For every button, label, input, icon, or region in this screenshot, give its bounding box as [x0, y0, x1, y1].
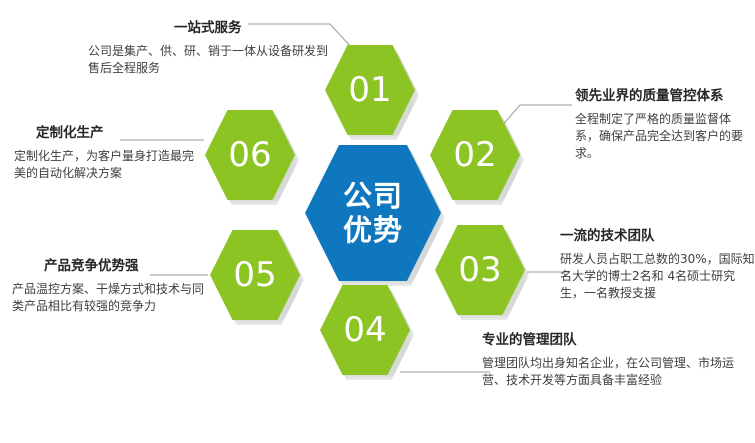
text-block-03-title: 一流的技术团队	[560, 228, 755, 246]
text-block-02: 领先业界的质量管控体系 全程制定了严格的质量监督体系，确保产品完全达到客户的要求…	[575, 88, 750, 163]
text-block-02-body: 全程制定了严格的质量监督体系，确保产品完全达到客户的要求。	[575, 111, 750, 163]
center-label-line1: 公司	[343, 179, 403, 213]
text-block-04-body: 管理团队均出身知名企业，在公司管理、市场运营、技术开发等方面具备丰富经验	[482, 355, 752, 390]
text-block-06: 定制化生产 定制化生产，为客户量身打造最完美的自动化解决方案	[14, 125, 204, 182]
hexagon-number-01: 01	[348, 73, 391, 107]
center-label-line2: 优势	[343, 213, 403, 247]
hexagon-number-06: 06	[228, 138, 271, 172]
infographic-canvas: 01 02 03 04 05 06 公司 优势 一站式服务 公司是集产、供、研、…	[0, 0, 755, 443]
hexagon-number-02: 02	[453, 138, 496, 172]
hexagon-number-05: 05	[233, 258, 276, 292]
text-block-05-body: 产品温控方案、干燥方式和技术与同类产品相比有较强的竞争力	[12, 281, 204, 316]
center-label: 公司 优势	[343, 179, 403, 247]
text-block-04: 专业的管理团队 管理团队均出身知名企业，在公司管理、市场运营、技术开发等方面具备…	[482, 332, 752, 389]
text-block-01: 一站式服务 公司是集产、供、研、销于一体从设备研发到售后全程服务	[88, 20, 338, 77]
text-block-05: 产品竞争优势强 产品温控方案、干燥方式和技术与同类产品相比有较强的竞争力	[12, 258, 204, 315]
text-block-01-body: 公司是集产、供、研、销于一体从设备研发到售后全程服务	[88, 43, 338, 78]
text-block-02-title: 领先业界的质量管控体系	[575, 88, 750, 106]
text-block-03-body: 研发人员占职工总数的30%，国际知名大学的博士2名和 4名硕士研究生，一名教授支…	[560, 251, 755, 303]
text-block-06-body: 定制化生产，为客户量身打造最完美的自动化解决方案	[14, 148, 204, 183]
hexagon-number-04: 04	[343, 313, 386, 347]
hexagon-number-03: 03	[458, 253, 501, 287]
text-block-03: 一流的技术团队 研发人员占职工总数的30%，国际知名大学的博士2名和 4名硕士研…	[560, 228, 755, 303]
text-block-01-title: 一站式服务	[174, 20, 338, 38]
text-block-04-title: 专业的管理团队	[482, 332, 752, 350]
text-block-05-title: 产品竞争优势强	[44, 258, 204, 276]
text-block-06-title: 定制化生产	[36, 125, 204, 143]
connector-line-02	[500, 105, 572, 128]
